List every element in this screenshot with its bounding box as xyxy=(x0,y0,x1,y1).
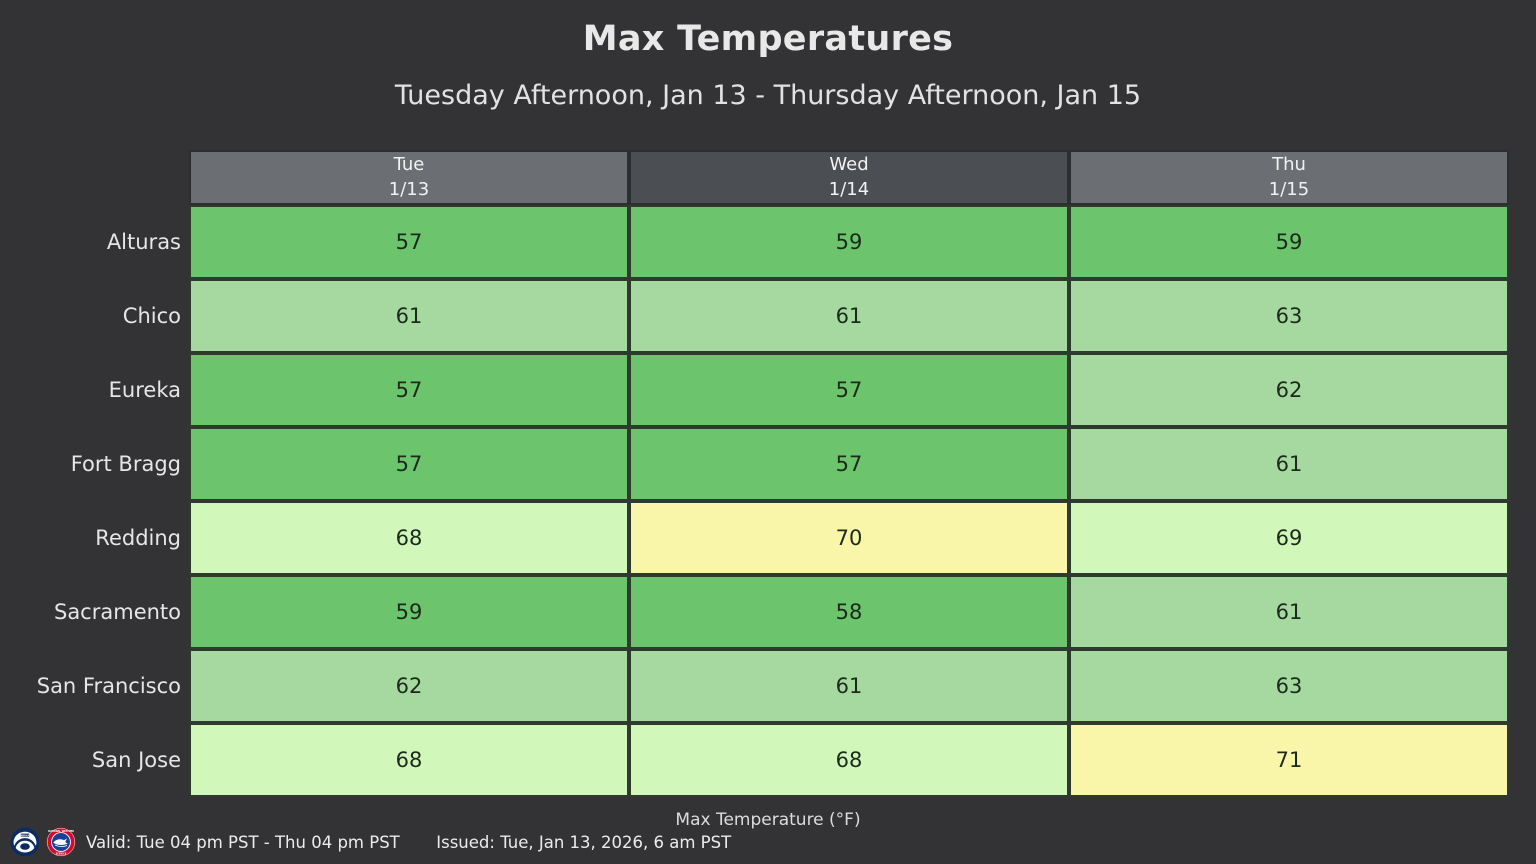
temperature-value: 61 xyxy=(396,304,423,328)
temperature-cell: 59 xyxy=(629,205,1069,279)
temperature-value: 59 xyxy=(1276,230,1303,254)
temperature-value: 68 xyxy=(396,748,423,772)
temperature-cell: San Jose68 xyxy=(189,723,629,797)
table-row: Redding687069 xyxy=(189,501,1509,575)
table-header-row: Tue1/13Wed1/14Thu1/15 xyxy=(189,150,1509,205)
temperature-value: 58 xyxy=(836,600,863,624)
nws-logo-icon: NATIONAL WEATHER SERVICE xyxy=(46,827,76,857)
temperature-value: 61 xyxy=(1276,452,1303,476)
temperature-cell: 69 xyxy=(1069,501,1509,575)
temperature-value: 70 xyxy=(836,526,863,550)
row-label-fort-bragg: Fort Bragg xyxy=(11,452,191,476)
temperature-cell: 63 xyxy=(1069,279,1509,353)
temperature-cell: Sacramento59 xyxy=(189,575,629,649)
noaa-logo-icon: NOAA xyxy=(10,827,40,857)
column-header-date: 1/13 xyxy=(191,178,627,202)
column-header-dayofweek: Tue xyxy=(191,153,627,177)
column-header-thu: Thu1/15 xyxy=(1069,150,1509,205)
temperature-value: 57 xyxy=(836,452,863,476)
table-body: Alturas575959Chico616163Eureka575762Fort… xyxy=(189,205,1509,797)
page-subtitle: Tuesday Afternoon, Jan 13 - Thursday Aft… xyxy=(0,60,1536,112)
table-row: Fort Bragg575761 xyxy=(189,427,1509,501)
temperature-value: 63 xyxy=(1276,674,1303,698)
temperature-cell: Alturas57 xyxy=(189,205,629,279)
table-row: San Jose686871 xyxy=(189,723,1509,797)
row-label-san-francisco: San Francisco xyxy=(11,674,191,698)
temperature-cell: 62 xyxy=(1069,353,1509,427)
temperature-table-container: Tue1/13Wed1/14Thu1/15 Alturas575959Chico… xyxy=(189,150,1509,797)
column-header-date: 1/15 xyxy=(1071,178,1507,202)
temperature-cell: 61 xyxy=(1069,427,1509,501)
temperature-cell: San Francisco62 xyxy=(189,649,629,723)
temperature-cell: 59 xyxy=(1069,205,1509,279)
temperature-cell: Eureka57 xyxy=(189,353,629,427)
svg-text:NOAA: NOAA xyxy=(21,833,31,837)
temperature-cell: 63 xyxy=(1069,649,1509,723)
temperature-cell: 68 xyxy=(629,723,1069,797)
temperature-cell: 70 xyxy=(629,501,1069,575)
svg-text:NATIONAL WEATHER: NATIONAL WEATHER xyxy=(48,830,74,833)
svg-text:SERVICE: SERVICE xyxy=(56,853,67,856)
temperature-cell: Fort Bragg57 xyxy=(189,427,629,501)
temperature-value: 61 xyxy=(1276,600,1303,624)
temperature-value: 68 xyxy=(396,526,423,550)
temperature-value: 59 xyxy=(836,230,863,254)
temperature-cell: 58 xyxy=(629,575,1069,649)
temperature-value: 57 xyxy=(396,230,423,254)
table-header: Tue1/13Wed1/14Thu1/15 xyxy=(189,150,1509,205)
table-row: San Francisco626163 xyxy=(189,649,1509,723)
row-label-san-jose: San Jose xyxy=(11,748,191,772)
temperature-value: 69 xyxy=(1276,526,1303,550)
footer-bar: NOAA NATIONAL WEATHER SERVICE Valid: Tue… xyxy=(0,820,1536,864)
temperature-cell: 61 xyxy=(629,649,1069,723)
row-label-sacramento: Sacramento xyxy=(11,600,191,624)
row-label-chico: Chico xyxy=(11,304,191,328)
temperature-value: 59 xyxy=(396,600,423,624)
temperature-value: 62 xyxy=(1276,378,1303,402)
table-row: Sacramento595861 xyxy=(189,575,1509,649)
table-row: Eureka575762 xyxy=(189,353,1509,427)
column-header-tue: Tue1/13 xyxy=(189,150,629,205)
column-header-dayofweek: Thu xyxy=(1071,153,1507,177)
row-label-eureka: Eureka xyxy=(11,378,191,402)
temperature-value: 61 xyxy=(836,674,863,698)
valid-time-text: Valid: Tue 04 pm PST - Thu 04 pm PST xyxy=(86,833,400,852)
temperature-value: 62 xyxy=(396,674,423,698)
temperature-heatmap-table: Tue1/13Wed1/14Thu1/15 Alturas575959Chico… xyxy=(189,150,1509,797)
temperature-value: 63 xyxy=(1276,304,1303,328)
temperature-value: 57 xyxy=(836,378,863,402)
temperature-value: 61 xyxy=(836,304,863,328)
column-header-dayofweek: Wed xyxy=(631,153,1067,177)
column-header-date: 1/14 xyxy=(631,178,1067,202)
temperature-cell: 57 xyxy=(629,353,1069,427)
footer-text: Valid: Tue 04 pm PST - Thu 04 pm PST Iss… xyxy=(86,833,731,852)
temperature-value: 57 xyxy=(396,378,423,402)
temperature-value: 68 xyxy=(836,748,863,772)
row-label-alturas: Alturas xyxy=(11,230,191,254)
page-title: Max Temperatures xyxy=(0,18,1536,60)
temperature-value: 71 xyxy=(1276,748,1303,772)
row-label-redding: Redding xyxy=(11,526,191,550)
temperature-cell: Chico61 xyxy=(189,279,629,353)
temperature-cell: 71 xyxy=(1069,723,1509,797)
table-row: Alturas575959 xyxy=(189,205,1509,279)
temperature-cell: 57 xyxy=(629,427,1069,501)
column-header-wed: Wed1/14 xyxy=(629,150,1069,205)
issued-time-text: Issued: Tue, Jan 13, 2026, 6 am PST xyxy=(436,833,731,852)
title-block: Max Temperatures Tuesday Afternoon, Jan … xyxy=(0,0,1536,112)
temperature-cell: 61 xyxy=(1069,575,1509,649)
temperature-value: 57 xyxy=(396,452,423,476)
table-row: Chico616163 xyxy=(189,279,1509,353)
temperature-cell: 61 xyxy=(629,279,1069,353)
temperature-cell: Redding68 xyxy=(189,501,629,575)
